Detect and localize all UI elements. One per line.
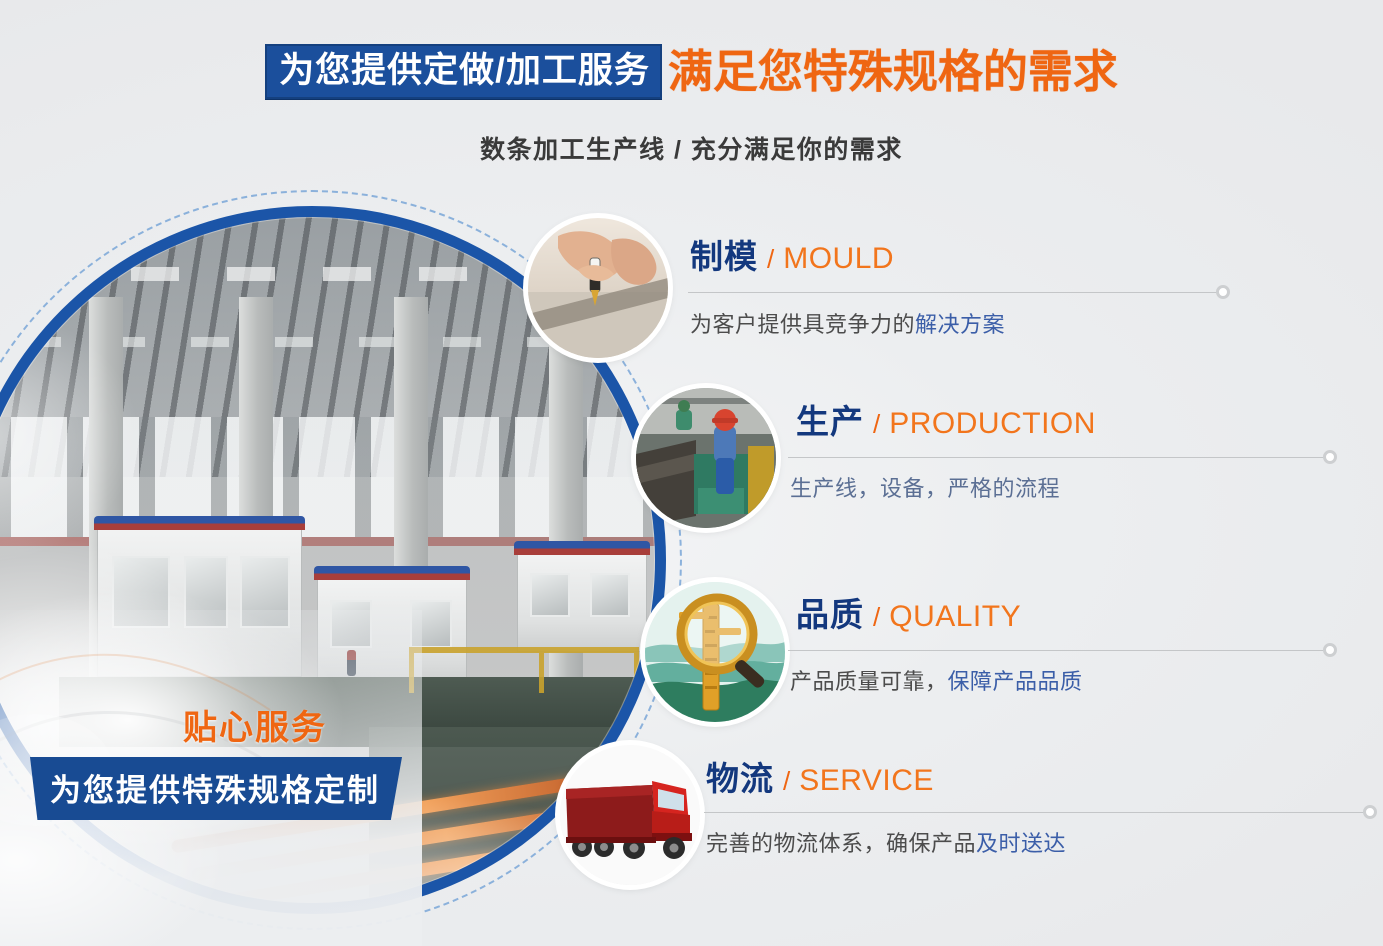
service-icon <box>560 745 700 885</box>
magnifier-over-gauge-icon <box>645 582 785 722</box>
left-caption-banner: 为您提供特殊规格定制 <box>30 757 402 820</box>
header: 为您提供定做/加工服务 满足您特殊规格的需求 <box>0 44 1383 99</box>
mould-divider-dot <box>1216 285 1230 299</box>
service-divider <box>704 812 1370 813</box>
red-semi-truck-icon <box>560 745 700 885</box>
header-row: 为您提供定做/加工服务 满足您特殊规格的需求 <box>265 44 1118 99</box>
left-caption: 贴心服务 为您提供特殊规格定制 <box>30 700 460 820</box>
production-divider <box>788 457 1330 458</box>
mould-heading: 制模 / MOULD <box>690 240 894 274</box>
service-title-en: SERVICE <box>799 766 934 796</box>
service-description: 完善的物流体系，确保产品及时送达 <box>706 826 1066 858</box>
mould-divider <box>688 292 1223 293</box>
mould-desc-plain: 为客户提供具竞争力的 <box>690 312 915 337</box>
mould-title-cn: 制模 <box>690 240 758 273</box>
quality-divider <box>788 650 1330 651</box>
hand-with-scribe-icon <box>528 218 668 358</box>
mould-desc-highlight: 解决方案 <box>915 312 1005 337</box>
header-headline: 满足您特殊规格的需求 <box>668 49 1118 94</box>
factory-worker-icon <box>636 388 776 528</box>
quality-description: 产品质量可靠，保障产品品质 <box>790 664 1083 696</box>
service-title-cn: 物流 <box>706 762 774 795</box>
service-desc-plain: 完善的物流体系，确保产品 <box>706 831 976 856</box>
quality-divider-dot <box>1323 643 1337 657</box>
quality-slash: / <box>873 604 880 630</box>
production-heading: 生产 / PRODUCTION <box>796 405 1096 439</box>
banner-stage: 为您提供定做/加工服务 满足您特殊规格的需求 数条加工生产线 / 充分满足你的需… <box>0 0 1383 946</box>
production-divider-dot <box>1323 450 1337 464</box>
mould-description: 为客户提供具竞争力的解决方案 <box>690 307 1005 339</box>
production-slash: / <box>873 411 880 437</box>
production-desc-plain: 生产线，设备，严格的流程 <box>790 476 1060 501</box>
production-description: 生产线，设备，严格的流程 <box>790 471 1060 503</box>
service-divider-dot <box>1363 805 1377 819</box>
production-icon <box>636 388 776 528</box>
quality-desc-plain: 产品质量可靠， <box>790 669 948 694</box>
quality-icon <box>645 582 785 722</box>
mould-slash: / <box>767 246 774 272</box>
quality-title-en: QUALITY <box>889 602 1021 632</box>
header-badge: 为您提供定做/加工服务 <box>265 44 662 99</box>
quality-heading: 品质 / QUALITY <box>796 598 1021 632</box>
left-caption-title: 贴心服务 <box>50 700 460 749</box>
quality-desc-highlight: 保障产品品质 <box>948 669 1083 694</box>
quality-title-cn: 品质 <box>796 598 864 631</box>
production-title-en: PRODUCTION <box>889 409 1096 439</box>
service-slash: / <box>783 768 790 794</box>
production-title-cn: 生产 <box>796 405 864 438</box>
mould-icon <box>528 218 668 358</box>
header-subtitle: 数条加工生产线 / 充分满足你的需求 <box>0 130 1383 166</box>
mould-title-en: MOULD <box>783 244 894 274</box>
service-heading: 物流 / SERVICE <box>706 762 934 796</box>
service-desc-highlight: 及时送达 <box>976 831 1066 856</box>
